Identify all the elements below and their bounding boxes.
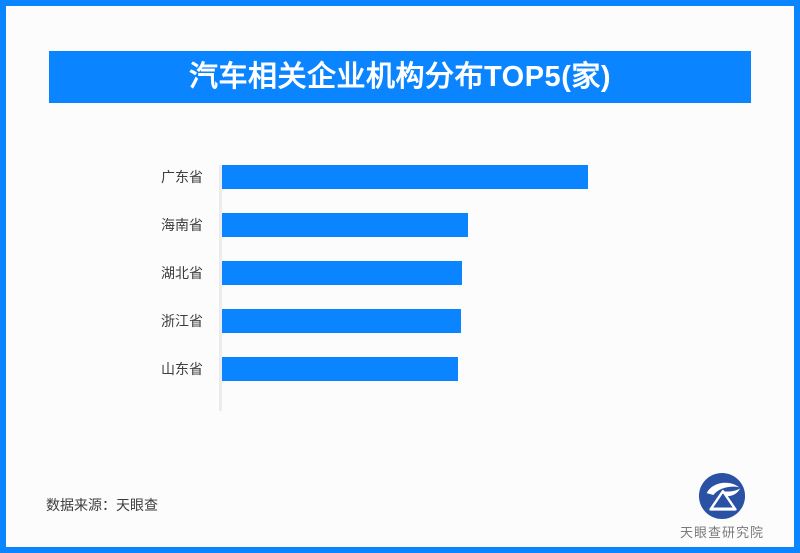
bar-hainan[interactable]: [222, 213, 468, 237]
tianyancha-logo-icon: [698, 472, 746, 520]
category-label-shandong: 山东省: [161, 357, 203, 381]
bar-chart: 广东省 海南省 湖北省 浙江省 山东省: [12, 106, 800, 436]
category-label-guangdong: 广东省: [161, 165, 203, 189]
bar-zhejiang[interactable]: [222, 309, 461, 333]
infographic-canvas: 汽车相关企业机构分布TOP5(家) 广东省 海南省 湖北省 浙江省 山东省: [0, 0, 800, 553]
bar-shandong[interactable]: [222, 357, 458, 381]
bar-guangdong[interactable]: [222, 165, 588, 189]
category-label-zhejiang: 浙江省: [161, 309, 203, 333]
plot-area: 广东省 海南省 湖北省 浙江省 山东省: [219, 165, 779, 411]
source-note: 数据来源：天眼查: [46, 495, 158, 515]
bar-hubei[interactable]: [222, 261, 462, 285]
category-label-hainan: 海南省: [161, 213, 203, 237]
category-label-hubei: 湖北省: [161, 261, 203, 285]
page-title: 汽车相关企业机构分布TOP5(家): [189, 63, 611, 92]
logo: 天眼查研究院: [669, 472, 775, 544]
title-banner: 汽车相关企业机构分布TOP5(家): [49, 51, 751, 103]
logo-text: 天眼查研究院: [680, 522, 764, 541]
